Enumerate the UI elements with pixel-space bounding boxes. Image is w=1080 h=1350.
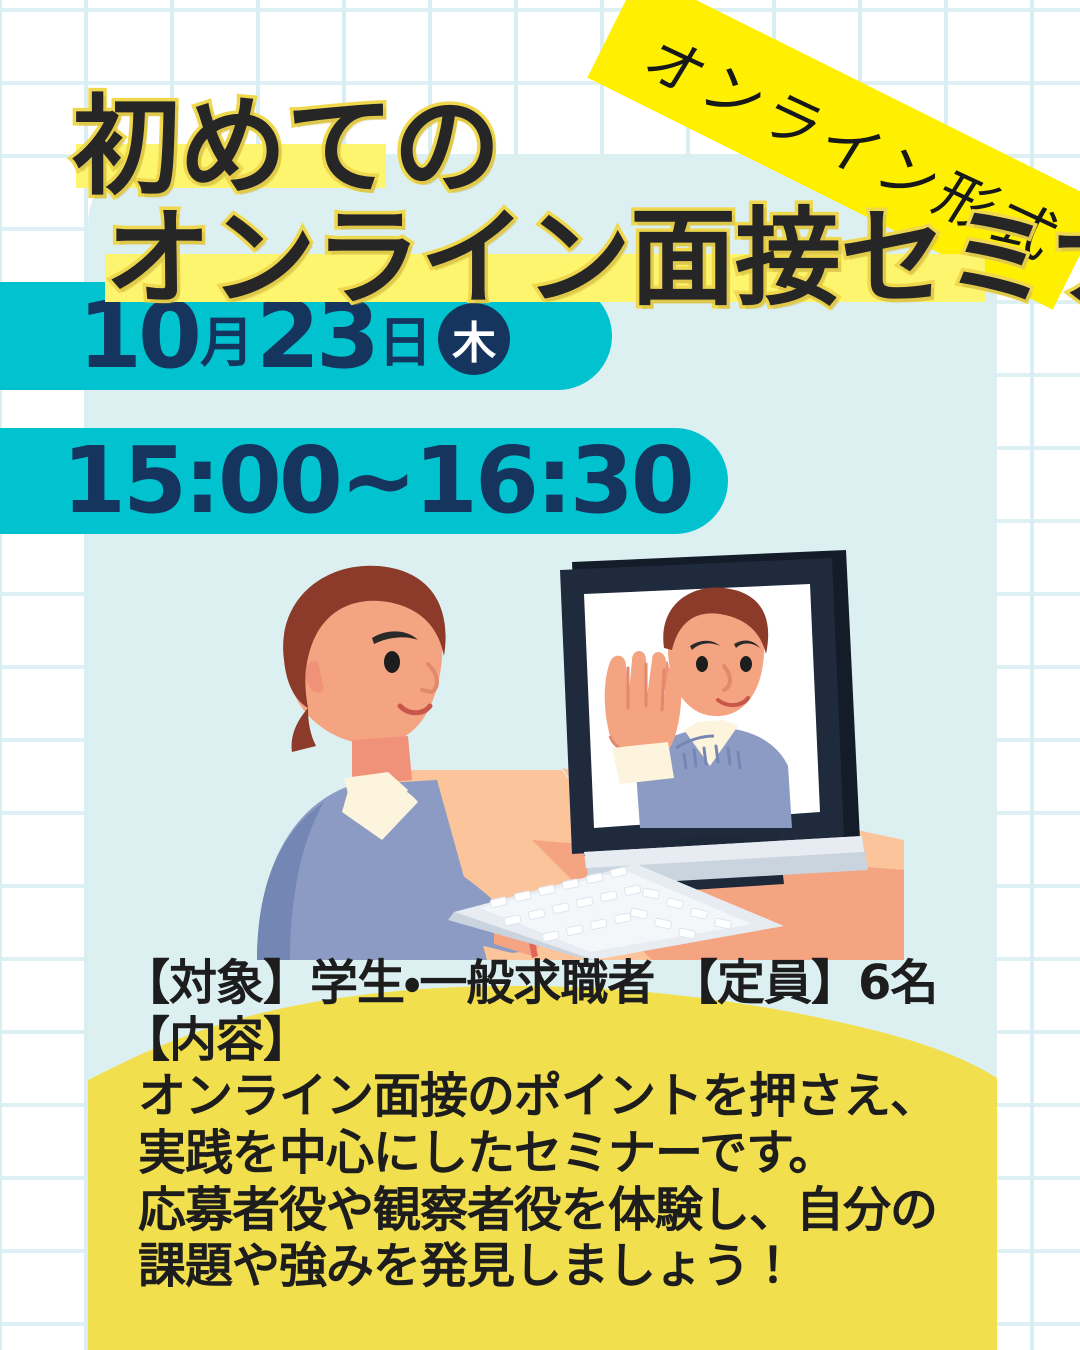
details-line: 実践を中心にしたセミナーです。	[122, 1125, 1002, 1182]
time-range-text: 15:00~16:30	[62, 435, 692, 527]
details-line: 課題や強みを発見しましょう！	[122, 1238, 1002, 1295]
details-line: オンライン面接のポイントを押さえ、	[122, 1068, 1002, 1125]
details-text-block: 【対象】学生・一般求職者 【定員】6名 【内容】 オンライン面接のポイントを押さ…	[122, 955, 1002, 1295]
headline-line-2-text: オンライン面接セミナー	[105, 172, 1080, 326]
details-line: 【内容】	[122, 1012, 1002, 1069]
details-line: 【対象】学生・一般求職者 【定員】6名	[122, 955, 1002, 1012]
online-interview-illustration	[232, 540, 904, 960]
time-pill: 15:00~16:30	[0, 428, 728, 534]
details-line: 応募者役や観察者役を体験し、自分の	[122, 1182, 1002, 1239]
headline-line-2: オンライン面接セミナー	[105, 172, 1080, 326]
poster-canvas: 初めての オンライン面接セミナー オンライン形式 10 月 23 日 木 15:…	[0, 0, 1080, 1350]
